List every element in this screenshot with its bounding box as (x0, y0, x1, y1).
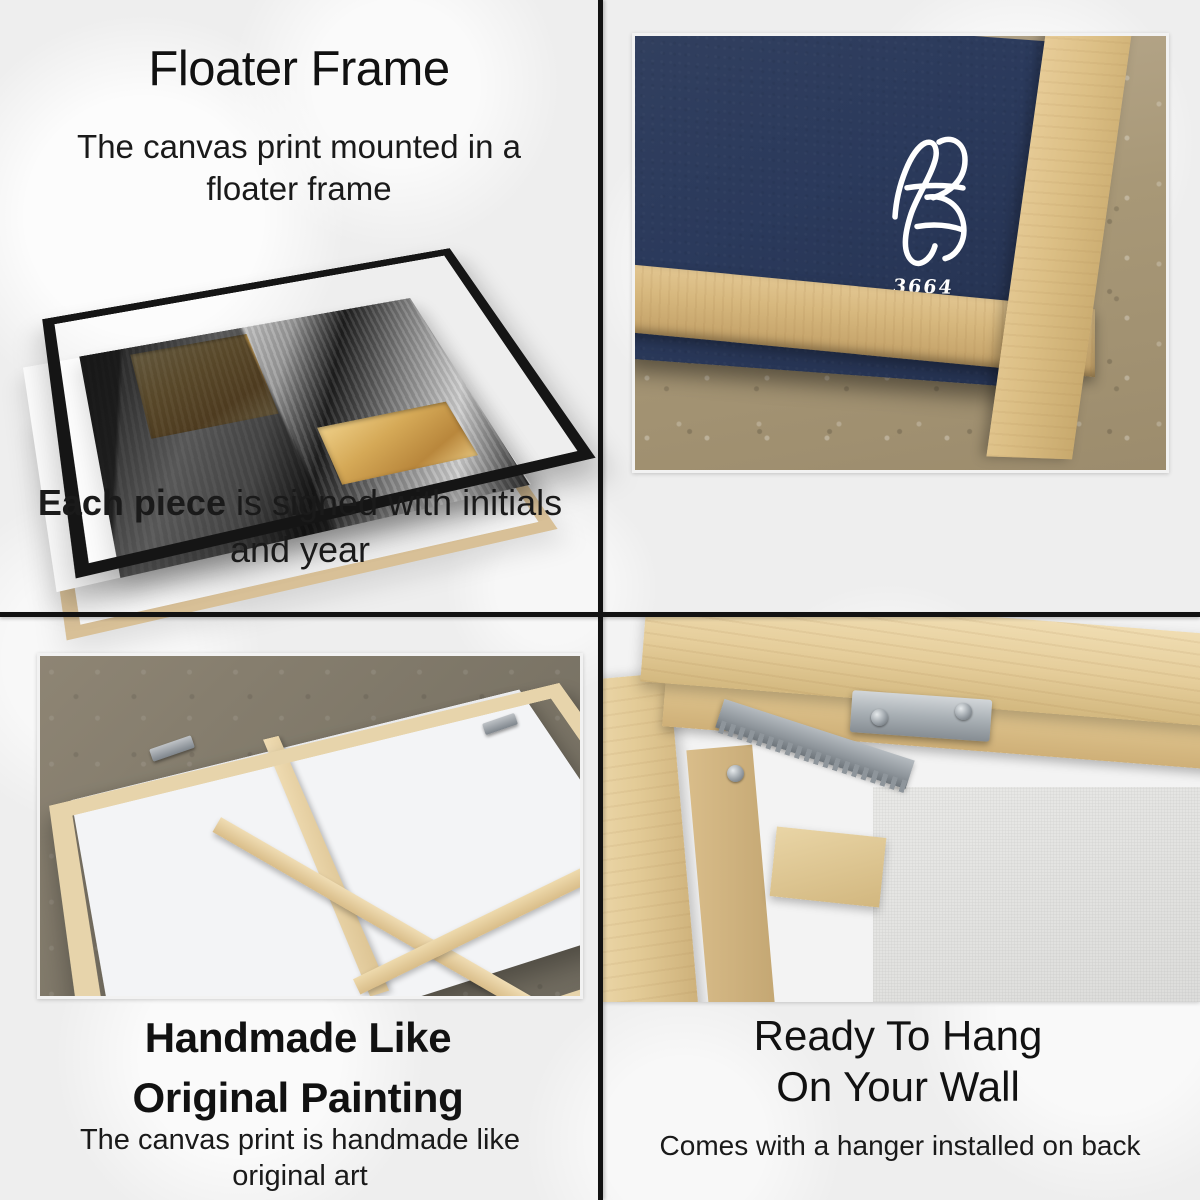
ready-to-hang-title-line-1: Ready To Hang (608, 1010, 1188, 1061)
handmade-title-line-1: Handmade Like (8, 1008, 588, 1068)
hanger-screw-1 (871, 709, 888, 726)
handmade-title-line-2: Original Painting (8, 1068, 588, 1128)
wood-corner-wedge (770, 826, 887, 907)
canvas-back-stretcher-bars-photo (37, 653, 583, 999)
ready-to-hang-subtitle: Comes with a hanger installed on back (604, 1128, 1196, 1163)
hanger-screw-2 (955, 703, 972, 720)
caption-rest-part: is signed with initials and year (226, 482, 562, 570)
vertical-divider (598, 0, 603, 1200)
sawtooth-hanger-bracket-photo (603, 617, 1200, 1002)
caption-bold-part: Each piece (38, 482, 226, 523)
ready-to-hang-title-line-2: On Your Wall (608, 1061, 1188, 1112)
signed-piece-caption: Each piece is signed with initials and y… (10, 480, 590, 574)
hanger-screw-3 (727, 765, 744, 782)
floater-frame-title: Floater Frame (0, 44, 598, 96)
horizontal-divider (0, 612, 1200, 617)
handmade-title: Handmade Like Original Painting (8, 1008, 588, 1127)
canvas-surface-behind (873, 787, 1200, 1002)
product-feature-infographic: Floater Frame The canvas print mounted i… (0, 0, 1200, 1200)
handmade-subtitle: The canvas print is handmade like origin… (30, 1122, 570, 1195)
signed-canvas-corner-photo: 3664 (632, 33, 1169, 473)
ready-to-hang-title: Ready To Hang On Your Wall (608, 1010, 1188, 1112)
